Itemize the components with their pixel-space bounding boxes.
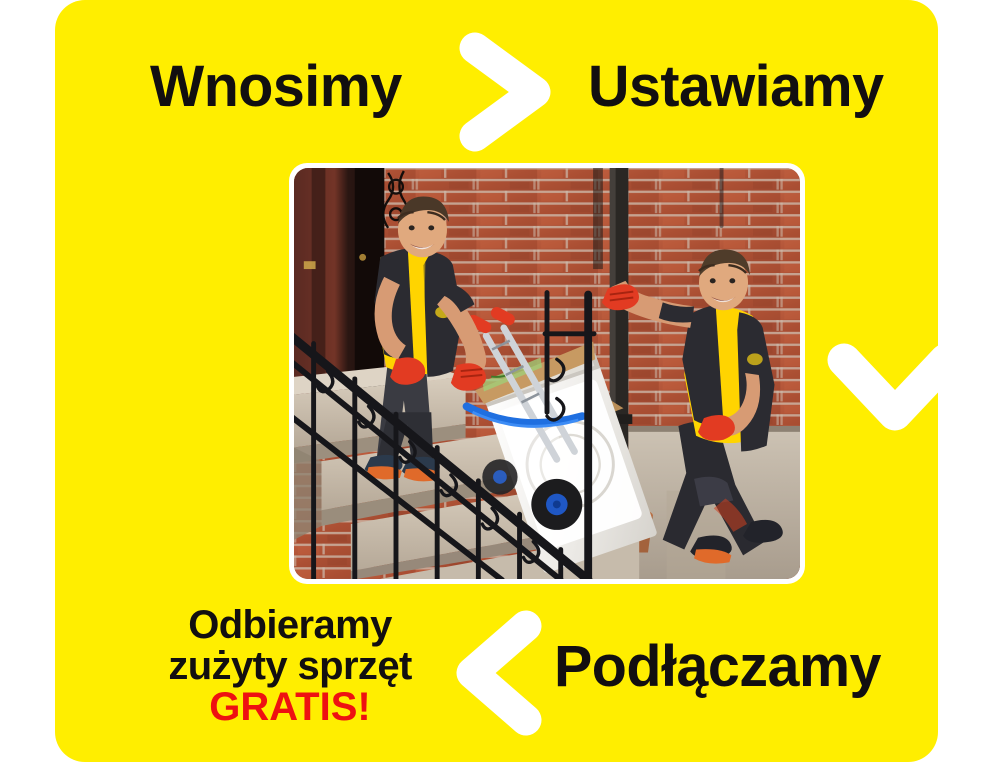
promo-banner: Wnosimy Ustawiamy Odbieramy zużyty sprzę…: [0, 0, 1000, 772]
headline-podlaczamy: Podłączamy: [554, 638, 881, 696]
pickup-text-block: Odbieramy zużyty sprzęt GRATIS!: [130, 605, 450, 729]
chevron-down-icon: [825, 340, 938, 440]
pickup-line-1: Odbieramy: [130, 605, 450, 646]
chevron-right-icon: [453, 32, 559, 152]
pickup-line-3-gratis: GRATIS!: [130, 687, 450, 728]
pickup-line-2: zużyty sprzęt: [130, 646, 450, 687]
chevron-left-icon: [448, 608, 554, 738]
delivery-workers-photo: [294, 168, 800, 579]
photo-frame: [289, 163, 805, 584]
headline-wnosimy: Wnosimy: [150, 58, 402, 116]
yellow-panel: Wnosimy Ustawiamy Odbieramy zużyty sprzę…: [55, 0, 938, 762]
headline-ustawiamy: Ustawiamy: [588, 58, 884, 116]
